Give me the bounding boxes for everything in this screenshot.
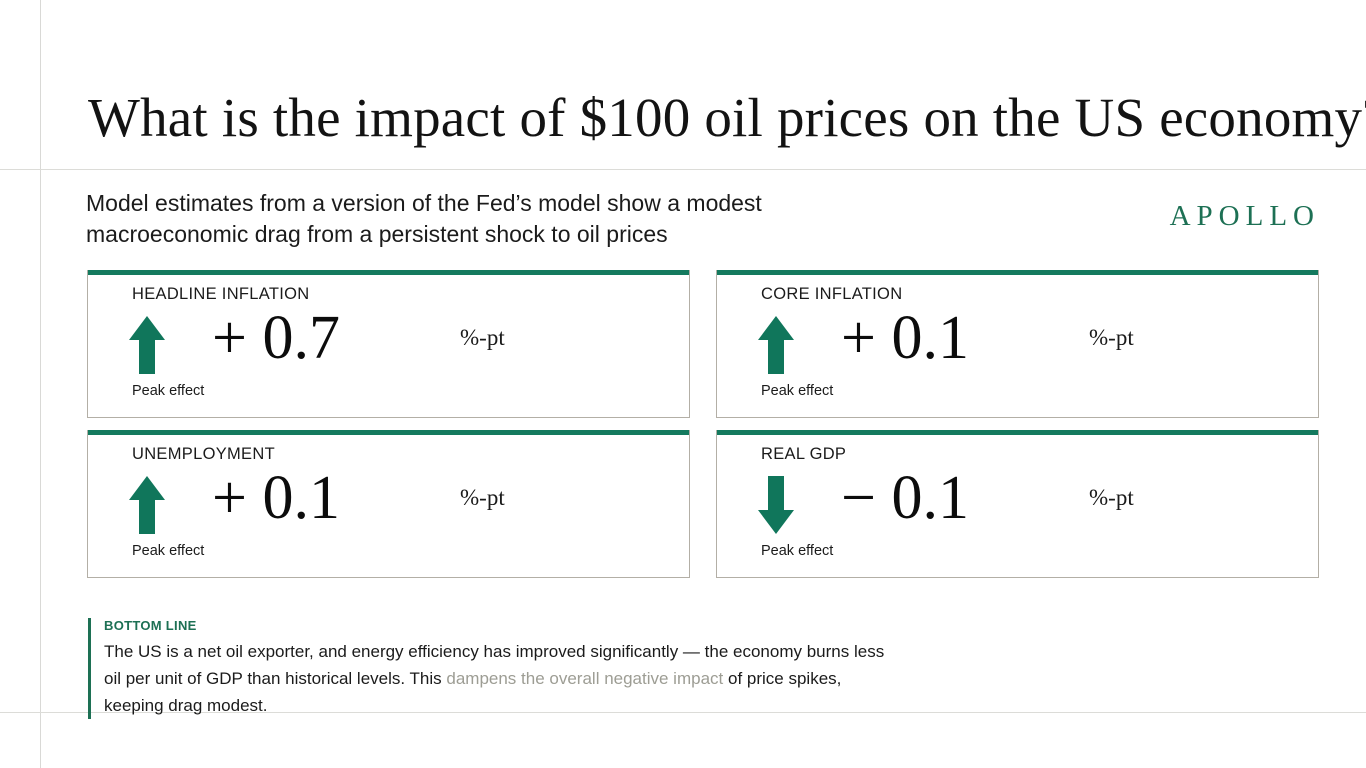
- page-header-rule: [0, 169, 1366, 170]
- card-unit: %-pt: [1089, 485, 1134, 511]
- card-value: + 0.7: [212, 298, 340, 378]
- arrow-down-icon: [757, 474, 795, 536]
- arrow-up-icon: [128, 474, 166, 536]
- bottom-line-kicker: BOTTOM LINE: [104, 618, 1068, 633]
- card-value: + 0.1: [841, 298, 969, 378]
- card-unit: %-pt: [460, 485, 505, 511]
- bottom-line-body: The US is a net oil exporter, and energy…: [104, 638, 904, 719]
- card-accent-bar: [717, 430, 1318, 435]
- card-accent-bar: [88, 270, 689, 275]
- card-unit: %-pt: [460, 325, 505, 351]
- card-value: + 0.1: [212, 458, 340, 538]
- apollo-logo: APOLLO: [1170, 200, 1320, 233]
- metric-card-real-gdp: REAL GDP − 0.1 %-pt Peak effect: [716, 430, 1319, 578]
- page-left-rule: [40, 0, 41, 768]
- card-label: REAL GDP: [761, 445, 846, 464]
- bottom-line-callout: BOTTOM LINE The US is a net oil exporter…: [88, 618, 1068, 719]
- metric-card-headline-inflation: HEADLINE INFLATION + 0.7 %-pt Peak effec…: [87, 270, 690, 418]
- arrow-up-icon: [128, 314, 166, 376]
- card-caption: Peak effect: [132, 383, 204, 399]
- card-accent-bar: [88, 430, 689, 435]
- arrow-up-icon: [757, 314, 795, 376]
- bottom-line-highlight: dampens the overall negative impact: [446, 669, 723, 688]
- metric-card-grid: HEADLINE INFLATION + 0.7 %-pt Peak effec…: [87, 270, 1319, 578]
- metric-card-unemployment: UNEMPLOYMENT + 0.1 %-pt Peak effect: [87, 430, 690, 578]
- page-subtitle: Model estimates from a version of the Fe…: [86, 188, 786, 250]
- card-caption: Peak effect: [761, 383, 833, 399]
- metric-card-core-inflation: CORE INFLATION + 0.1 %-pt Peak effect: [716, 270, 1319, 418]
- card-caption: Peak effect: [761, 543, 833, 559]
- card-value: − 0.1: [841, 458, 969, 538]
- card-accent-bar: [717, 270, 1318, 275]
- page-title: What is the impact of $100 oil prices on…: [88, 85, 1318, 151]
- card-unit: %-pt: [1089, 325, 1134, 351]
- card-caption: Peak effect: [132, 543, 204, 559]
